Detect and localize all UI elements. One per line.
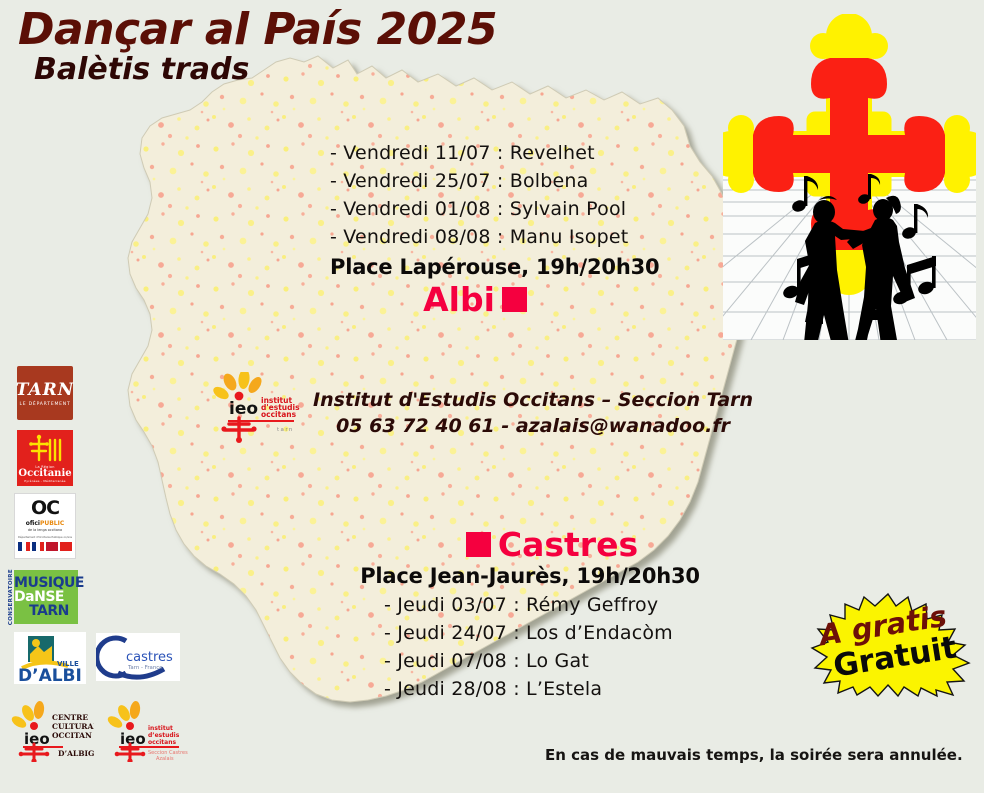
castres-event-3: - Jeudi 07/08 : Lo Gat — [384, 648, 700, 676]
ieo2-line1: institut — [148, 725, 173, 732]
oplo-subtitle: de la lenga occitana — [28, 528, 62, 532]
contact-organisation: Institut d'Estudis Occitans – Seccion Ta… — [313, 388, 753, 414]
contact-block: Institut d'Estudis Occitans – Seccion Ta… — [313, 388, 753, 439]
occitanie-logo-line3: Pyrénées - Méditerranée — [24, 479, 65, 483]
ieo2-line5: Azalais — [156, 756, 174, 762]
oplo-name: oficiPUBLIC — [26, 520, 65, 527]
ieo-wordmark: ieo — [229, 399, 258, 419]
sponsor-logo-conservatoire-musique-danse-tarn[interactable]: CONSERVATOIRE MUSIQUE DaNSE TARN — [14, 570, 78, 624]
castres-event-4: - Jeudi 28/08 : L’Estela — [384, 676, 700, 704]
oplo-name-part2: PUBLIC — [40, 520, 64, 527]
ieo1-line4: D’ALBIGÉS — [58, 749, 94, 758]
artwork-dancers-and-cross — [723, 14, 976, 340]
sponsor-logo-ville-dalbi[interactable]: VILLE D’ALBI — [14, 632, 86, 684]
poster-root: Dançar al País 2025 Balètis trads - Vend… — [0, 0, 984, 793]
castres-logo-line1: castres — [126, 650, 173, 665]
flag-france-icon — [32, 542, 44, 551]
ieo2-line3: occitans — [148, 739, 176, 746]
mdt-line2: DaNSE — [14, 590, 84, 604]
free-badge: A gratis Gratuit — [800, 592, 976, 698]
occitanie-logo-line2: Occitanie — [18, 469, 71, 479]
ieo-tarn-logo: ieo institut d'estudis occitans tarn — [209, 372, 309, 448]
ieo-wordmark: ieo — [120, 730, 146, 748]
sponsor-logo-tarn-departement[interactable]: TARN LE DÉPARTEMENT — [17, 366, 73, 420]
page-title: Dançar al País 2025 — [18, 4, 497, 55]
svg-text:tarn: tarn — [277, 427, 294, 433]
sponsor-logo-region-occitanie[interactable]: La Région Occitanie Pyrénées - Méditerra… — [17, 430, 73, 486]
albi-venue: Place Lapérouse, 19h/20h30 — [330, 255, 660, 279]
flag-france-icon — [18, 542, 30, 551]
contact-phone-email[interactable]: 05 63 72 40 61 - azalais@wanadoo.fr — [313, 414, 753, 440]
castres-venue: Place Jean-Jaurès, 19h/20h30 — [360, 564, 700, 588]
mdt-vertical-label: CONSERVATOIRE — [8, 569, 14, 625]
castres-event-1: - Jeudi 03/07 : Rémy Geffroy — [384, 592, 700, 620]
ieo-leaves-icon — [211, 372, 264, 402]
region-mark-icon — [46, 542, 58, 551]
albi-event-1: - Vendredi 11/07 : Revelhet — [330, 140, 660, 168]
albi-city-label: Albi — [423, 283, 495, 316]
castres-logo-line2: Tarn - France — [127, 665, 163, 671]
weather-cancellation-note: En cas de mauvais temps, la soirée sera … — [545, 746, 963, 764]
albi-logo-line2: D’ALBI — [18, 666, 82, 684]
castres-city-row: Castres — [404, 528, 700, 561]
ieo2-line2: d’estudis — [148, 732, 180, 739]
oplo-footnote: Département d'Occitanie Publique oc/ans — [18, 536, 72, 539]
ieo-wordmark: ieo — [24, 730, 50, 748]
sponsor-logo-castres[interactable]: castres Tarn - France — [96, 633, 180, 681]
oplo-name-part1: ofici — [26, 520, 40, 527]
red-square-marker-icon — [466, 532, 491, 557]
ieo1-line1: CENTRE — [52, 713, 88, 722]
sponsor-logo-ieo-seccion-castres-azalais[interactable]: ieo institut d’estudis occitans Seccion … — [104, 700, 190, 762]
albi-event-2: - Vendredi 25/07 : Bolbena — [330, 168, 660, 196]
castres-city-label: Castres — [498, 528, 638, 561]
region-mark-icon — [60, 542, 72, 551]
ieo-leaves-icon — [106, 700, 141, 730]
tarn-logo-line2: LE DÉPARTEMENT — [19, 402, 70, 407]
ieo1-line2: CULTURAL — [52, 722, 94, 731]
albi-city-row: Albi — [330, 283, 620, 316]
mdt-line1: MUSIQUE — [14, 576, 84, 590]
tarn-logo-line1: TARN — [16, 380, 75, 400]
albi-event-4: - Vendredi 08/08 : Manu Isopet — [330, 224, 660, 252]
page-subtitle: Balètis trads — [34, 52, 249, 87]
red-square-marker-icon — [502, 287, 527, 312]
oplo-partner-flags — [18, 542, 72, 551]
sponsor-logo-ieo-centre-cultural-occitan-albiges[interactable]: ieo CENTRE CULTURAL OCCITAN D’ALBIGÉS — [8, 700, 94, 762]
oplo-mark: OC — [31, 499, 59, 518]
albi-event-3: - Vendredi 01/08 : Sylvain Pool — [330, 196, 660, 224]
albi-section: - Vendredi 11/07 : Revelhet - Vendredi 2… — [330, 140, 660, 316]
svg-text:occitans: occitans — [261, 410, 297, 419]
sponsor-logo-office-public-langue-occitane[interactable]: OC oficiPUBLIC de la lenga occitana Dépa… — [14, 493, 76, 559]
mdt-line3: TARN — [14, 604, 84, 618]
occitan-cross-sun-icon — [26, 434, 64, 464]
ieo-leaves-icon — [10, 700, 45, 730]
ieo1-line3: OCCITAN — [52, 731, 92, 740]
castres-section: Castres Place Jean-Jaurès, 19h/20h30 - J… — [360, 528, 700, 704]
castres-event-2: - Jeudi 24/07 : Los d’Endacòm — [384, 620, 700, 648]
